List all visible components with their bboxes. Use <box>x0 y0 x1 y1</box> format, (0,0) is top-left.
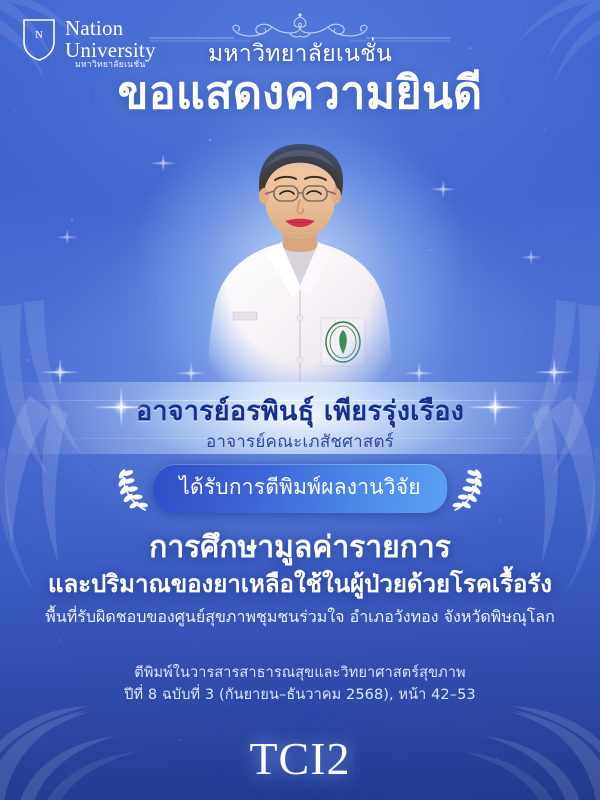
research-title-line-1: การศึกษามูลค่ารายการ <box>26 528 574 567</box>
sparkle-star <box>534 352 574 392</box>
honoree-role: อาจารย์คณะเภสัชศาสตร์ <box>0 428 600 455</box>
portrait-photo <box>193 122 407 400</box>
sparkle-star <box>520 246 542 268</box>
congratulation-poster: N Nation University มหาวิทยาลัยเนชั่น <box>0 0 600 800</box>
footer-block: TCI2 <box>0 736 600 782</box>
research-title-block: การศึกษามูลค่ารายการ และปริมาณของยาเหลือ… <box>0 528 600 628</box>
award-badge: ได้รับการตีพิมพ์ผลงานวิจัย <box>113 464 487 513</box>
research-title-line-2: และปริมาณของยาเหลือใช้ในผู้ป่วยด้วยโรคเร… <box>26 569 574 600</box>
journal-issue: ปีที่ 8 ฉบับที่ 3 (กันยายน–ธันวาคม 2568)… <box>0 684 600 706</box>
journal-name: ตีพิมพ์ในวารสารสาธารณสุขและวิทยาศาสตร์สุ… <box>0 662 600 684</box>
sparkle-star <box>40 352 80 392</box>
research-title-line-3: พื้นที่รับผิดชอบของศูนย์สุขภาพชุมชนร่วมใ… <box>26 606 574 628</box>
honoree-block: อาจารย์อรพินธุ์ เพียรรุ่งเรือง อาจารย์คณ… <box>0 396 600 455</box>
badge-label-pill[interactable]: ได้รับการตีพิมพ์ผลงานวิจัย <box>153 464 447 513</box>
tci-tier-label: TCI2 <box>249 736 350 782</box>
honoree-name: อาจารย์อรพินธุ์ เพียรรุ่งเรือง <box>0 396 600 428</box>
sparkle-star <box>56 226 78 248</box>
badge-label: ได้รับการตีพิมพ์ผลงานวิจัย <box>179 475 421 499</box>
laurel-branch-icon <box>113 465 149 513</box>
laurel-branch-icon <box>451 465 487 513</box>
journal-info-block: ตีพิมพ์ในวารสารสาธารณสุขและวิทยาศาสตร์สุ… <box>0 662 600 707</box>
